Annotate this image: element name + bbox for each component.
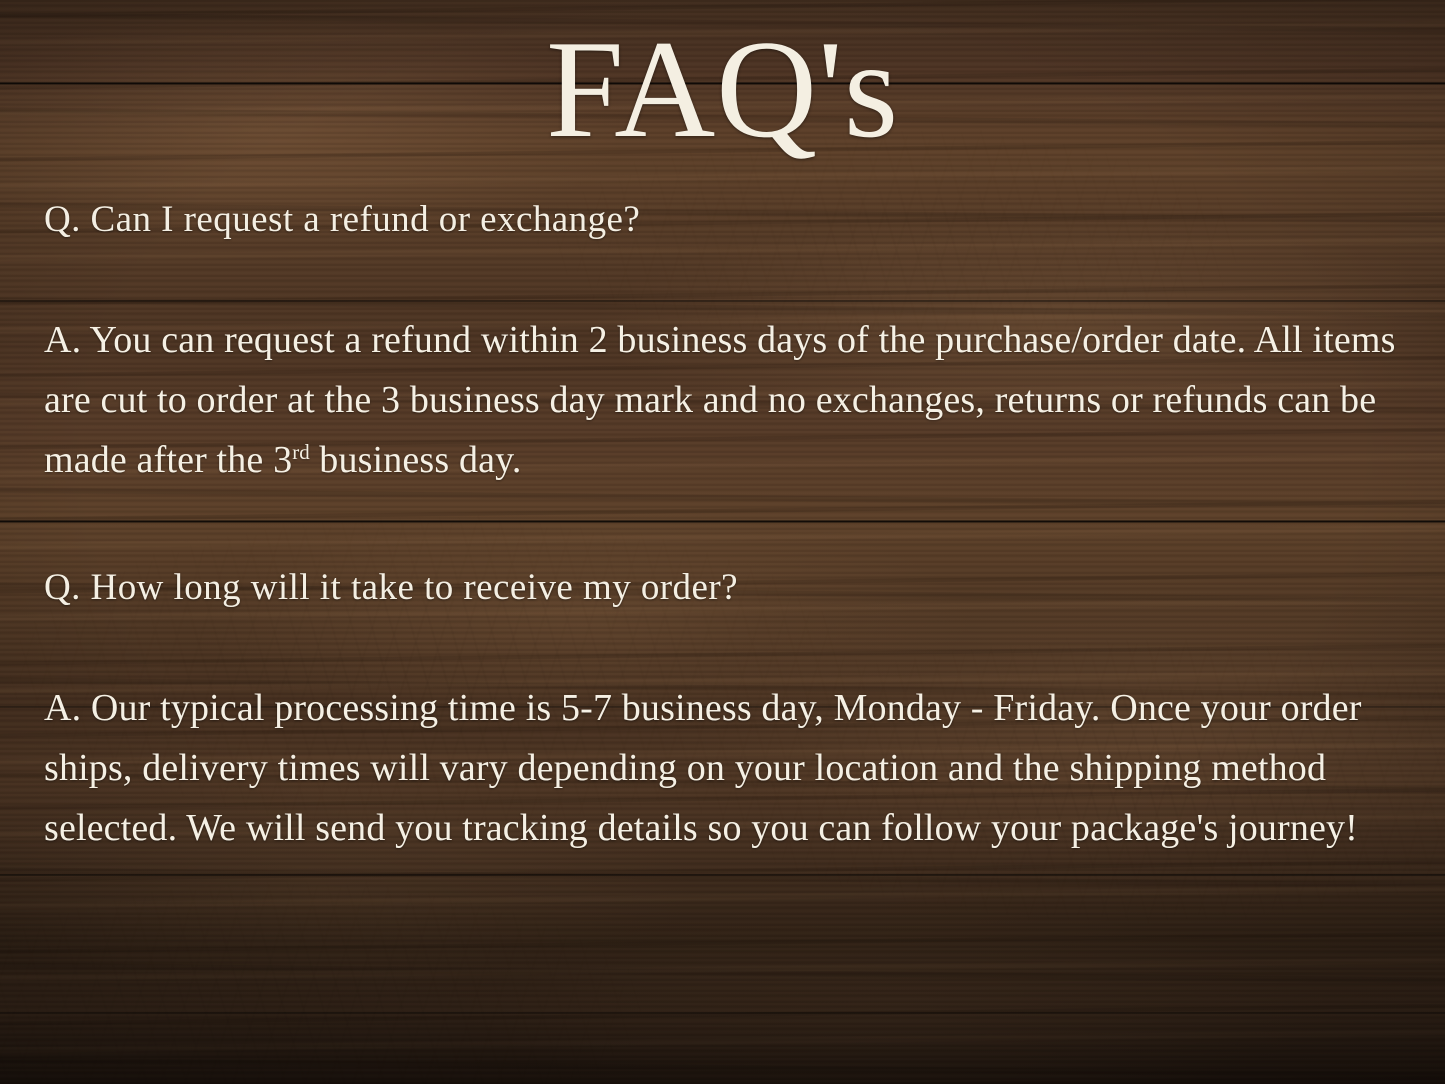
faq-answer: A. You can request a refund within 2 bus… — [44, 310, 1404, 490]
faq-answer-line: follow your package's journey! — [881, 807, 1358, 849]
spacer-question-answer — [44, 612, 1404, 678]
faq-item-delivery-time: Q. How long will it take to receive my o… — [44, 564, 1404, 858]
faq-item-refund-exchange: Q. Can I request a refund or exchange? A… — [44, 196, 1404, 490]
faq-list: Q. Can I request a refund or exchange? A… — [44, 196, 1404, 858]
faq-page: FAQ's Q. Can I request a refund or excha… — [0, 0, 1445, 1084]
spacer-question-answer — [44, 244, 1404, 310]
faq-answer-line: A. You can request a refund within 2 bus… — [44, 319, 1163, 361]
faq-content: FAQ's Q. Can I request a refund or excha… — [0, 0, 1445, 1084]
faq-question: Q. Can I request a refund or exchange? — [44, 196, 1404, 244]
faq-answer-tail: business day. — [310, 439, 522, 481]
faq-answer: A. Our typical processing time is 5-7 bu… — [44, 678, 1404, 858]
ordinal-suffix: rd — [292, 440, 309, 464]
spacer-between-items — [44, 490, 1404, 564]
faq-answer-line: A. Our typical processing time is 5-7 bu… — [44, 687, 1191, 729]
page-title: FAQ's — [0, 16, 1445, 163]
faq-question: Q. How long will it take to receive my o… — [44, 564, 1404, 612]
